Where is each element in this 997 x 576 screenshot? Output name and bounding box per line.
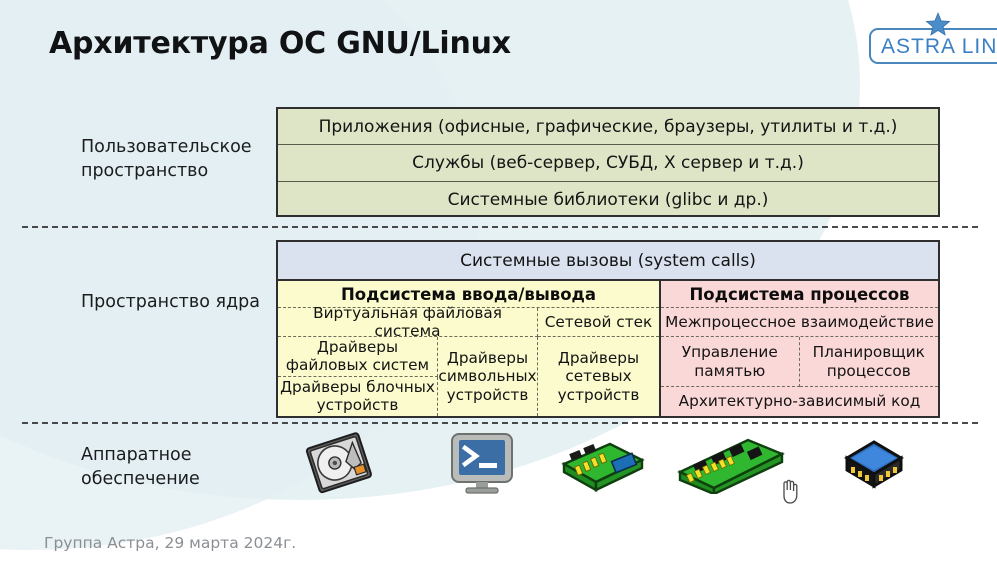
label-hardware: Аппаратное обеспечение <box>81 444 276 491</box>
footer-text: Группа Астра, 29 марта 2024г. <box>44 534 296 552</box>
separator-user-kernel <box>22 226 978 228</box>
process-subsystem: Подсистема процессов Межпроцессное взаим… <box>661 281 938 416</box>
label-user-space: Пользовательское пространство <box>81 136 276 183</box>
user-space-row-libraries: Системные библиотеки (glibc и др.) <box>278 182 938 218</box>
cell-virtual-file-system: Виртуальная файловая система <box>278 308 538 337</box>
cell-block-device-drivers: Драйверы блочных устройств <box>278 377 438 417</box>
cell-interprocess-communication: Межпроцессное взаимодействие <box>661 308 938 337</box>
user-space-block: Приложения (офисные, графические, браузе… <box>276 107 940 217</box>
process-subsystem-grid: Межпроцессное взаимодействие Управление … <box>661 308 938 416</box>
page-title: Архитектура ОС GNU/Linux <box>49 26 511 61</box>
terminal-icon <box>446 430 518 496</box>
hand-cursor <box>779 478 801 504</box>
io-subsystem-grid: Виртуальная файловая система Сетевой сте… <box>278 308 659 416</box>
logo-text: ASTRA LIN <box>881 35 997 59</box>
kernel-space-block: Системные вызовы (system calls) Подсисте… <box>276 240 940 418</box>
memory-module-icon <box>676 436 786 494</box>
cell-network-stack: Сетевой стек <box>538 308 659 337</box>
cell-network-device-drivers: Драйверы сетевых устройств <box>538 337 659 416</box>
slide-canvas: Архитектура ОС GNU/Linux ASTRA LIN Польз… <box>0 0 997 576</box>
cell-memory-management: Управление памятью <box>661 337 800 387</box>
hard-disk-icon <box>298 430 378 496</box>
star-icon <box>925 12 951 38</box>
cpu-chip-icon <box>841 436 907 492</box>
user-space-row-applications: Приложения (офисные, графические, браузе… <box>278 109 938 145</box>
io-subsystem: Подсистема ввода/вывода Виртуальная файл… <box>278 281 661 416</box>
kernel-columns: Подсистема ввода/вывода Виртуальная файл… <box>278 281 938 416</box>
process-subsystem-header: Подсистема процессов <box>661 281 938 308</box>
label-kernel-space: Пространство ядра <box>81 291 276 315</box>
network-card-icon <box>556 438 646 492</box>
cell-character-device-drivers: Драйверы символьных устройств <box>438 337 538 416</box>
system-calls-band: Системные вызовы (system calls) <box>278 242 938 281</box>
separator-kernel-hardware <box>22 422 978 424</box>
cell-architecture-dependent-code: Архитектурно-зависимый код <box>661 387 938 416</box>
cell-filesystem-drivers: Драйверы файловых систем <box>278 337 438 377</box>
user-space-row-services: Службы (веб-сервер, СУБД, X сервер и т.д… <box>278 145 938 181</box>
cell-process-scheduler: Планировщик процессов <box>800 337 939 387</box>
hardware-icons-row <box>276 430 940 502</box>
